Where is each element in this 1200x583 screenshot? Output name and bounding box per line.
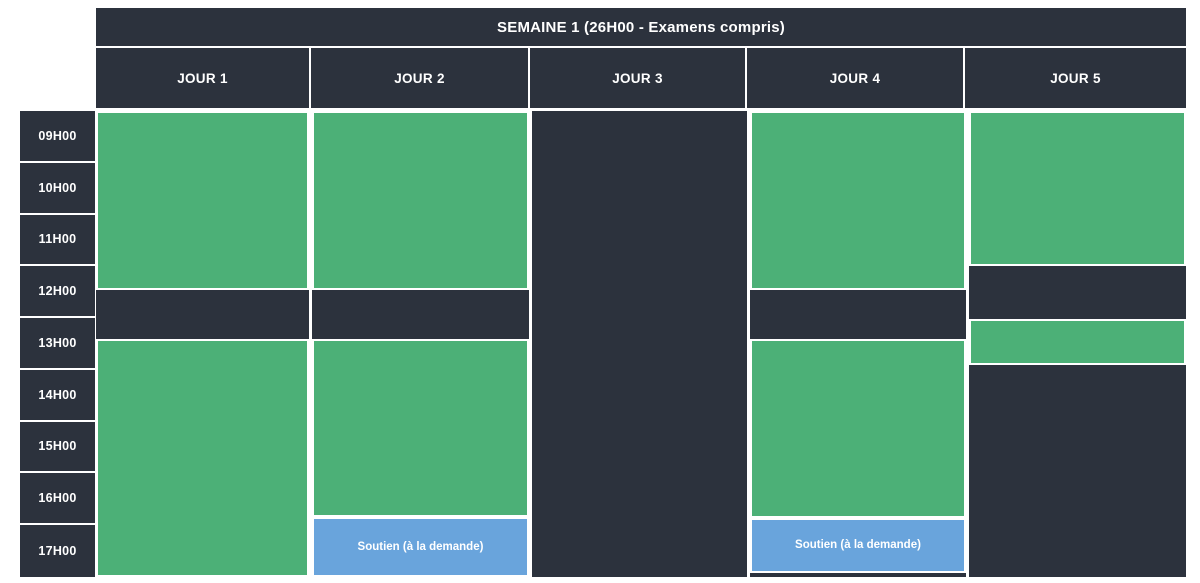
day-column-jour-2-course-block-1[interactable]	[312, 111, 529, 290]
day-header-row: JOUR 1 JOUR 2 JOUR 3 JOUR 4 JOUR 5	[96, 48, 1186, 108]
day-column-jour-3	[532, 111, 747, 577]
day-column-jour-5-empty-block-4	[969, 365, 1186, 577]
block-label: Soutien (à la demande)	[358, 540, 484, 554]
day-column-jour-2-course-block-3[interactable]	[312, 339, 529, 517]
time-label-11h00: 11H00	[20, 215, 95, 267]
weekly-timetable: SEMAINE 1 (26H00 - Examens compris) JOUR…	[0, 0, 1200, 583]
day-column-jour-4-empty-block-2	[750, 290, 966, 339]
day-column-jour-2-support-block-4[interactable]: Soutien (à la demande)	[312, 517, 529, 577]
time-label-09h00: 09H00	[20, 111, 95, 163]
time-label-column: 09H00 10H00 11H00 12H00 13H00 14H00 15H0…	[20, 111, 95, 577]
day-column-jour-2: Soutien (à la demande)	[312, 111, 529, 577]
time-label-10h00: 10H00	[20, 163, 95, 215]
day-column-jour-1-empty-block-2	[96, 290, 309, 339]
time-label-17h00: 17H00	[20, 525, 95, 577]
day-column-jour-2-empty-block-2	[312, 290, 529, 339]
day-column-jour-3-empty-block-1	[532, 111, 747, 577]
day-column-jour-4-course-block-3[interactable]	[750, 339, 966, 518]
day-header-jour-3[interactable]: JOUR 3	[530, 48, 747, 108]
day-header-jour-2[interactable]: JOUR 2	[311, 48, 530, 108]
day-header-jour-4[interactable]: JOUR 4	[747, 48, 965, 108]
day-column-jour-1-course-block-3[interactable]	[96, 339, 309, 577]
time-label-14h00: 14H00	[20, 370, 95, 422]
day-column-jour-5-course-block-1[interactable]	[969, 111, 1186, 266]
time-label-15h00: 15H00	[20, 422, 95, 474]
day-column-jour-5	[969, 111, 1186, 577]
day-column-jour-4-support-block-4[interactable]: Soutien (à la demande)	[750, 518, 966, 573]
day-header-jour-1[interactable]: JOUR 1	[96, 48, 311, 108]
day-column-jour-1	[96, 111, 309, 577]
time-label-12h00: 12H00	[20, 266, 95, 318]
day-column-jour-5-empty-block-2	[969, 266, 1186, 319]
block-label: Soutien (à la demande)	[795, 538, 921, 552]
schedule-grid-body: Soutien (à la demande) Soutien (à la dem…	[96, 111, 1186, 577]
day-column-jour-1-course-block-1[interactable]	[96, 111, 309, 290]
day-column-jour-4: Soutien (à la demande)	[750, 111, 966, 577]
day-header-jour-5[interactable]: JOUR 5	[965, 48, 1186, 108]
time-label-16h00: 16H00	[20, 473, 95, 525]
day-column-jour-4-course-block-1[interactable]	[750, 111, 966, 290]
day-column-jour-5-course-block-3[interactable]	[969, 319, 1186, 365]
week-title-banner: SEMAINE 1 (26H00 - Examens compris)	[96, 8, 1186, 46]
time-label-13h00: 13H00	[20, 318, 95, 370]
